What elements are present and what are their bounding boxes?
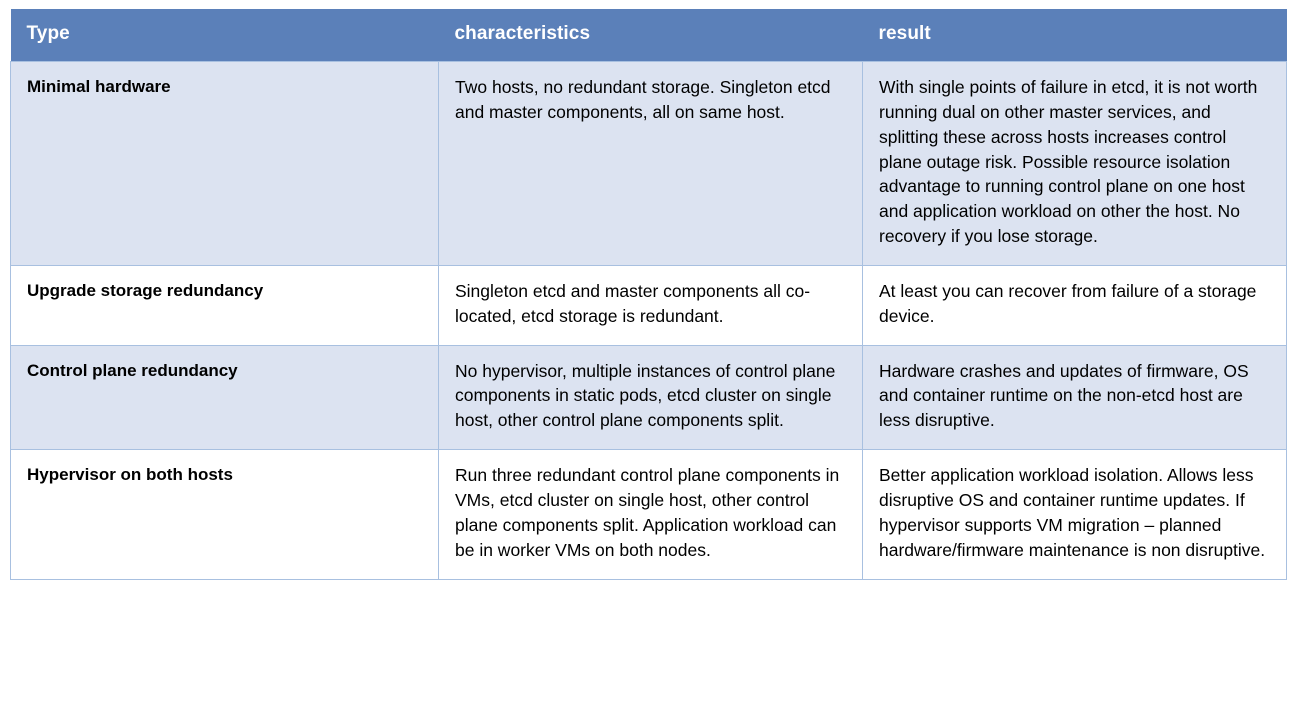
table-header-row: Type characteristics result [11,9,1287,62]
cell-characteristics: Singleton etcd and master components all… [439,265,863,345]
column-header-result: result [863,9,1287,62]
cell-type: Minimal hardware [11,62,439,266]
table-body: Minimal hardware Two hosts, no redundant… [11,62,1287,580]
column-header-characteristics: characteristics [439,9,863,62]
table-row: Minimal hardware Two hosts, no redundant… [11,62,1287,266]
cell-type: Upgrade storage redundancy [11,265,439,345]
comparison-table-container: Type characteristics result Minimal hard… [10,9,1286,580]
table-header: Type characteristics result [11,9,1287,62]
cell-characteristics: Two hosts, no redundant storage. Singlet… [439,62,863,266]
cell-type: Control plane redundancy [11,345,439,450]
table-row: Control plane redundancy No hypervisor, … [11,345,1287,450]
cell-characteristics: No hypervisor, multiple instances of con… [439,345,863,450]
column-header-type: Type [11,9,439,62]
cell-result: At least you can recover from failure of… [863,265,1287,345]
table-row: Upgrade storage redundancy Singleton etc… [11,265,1287,345]
table-row: Hypervisor on both hosts Run three redun… [11,450,1287,579]
deployment-options-table: Type characteristics result Minimal hard… [10,9,1287,580]
cell-characteristics: Run three redundant control plane compon… [439,450,863,579]
cell-result: With single points of failure in etcd, i… [863,62,1287,266]
cell-result: Hardware crashes and updates of firmware… [863,345,1287,450]
cell-type: Hypervisor on both hosts [11,450,439,579]
cell-result: Better application workload isolation. A… [863,450,1287,579]
